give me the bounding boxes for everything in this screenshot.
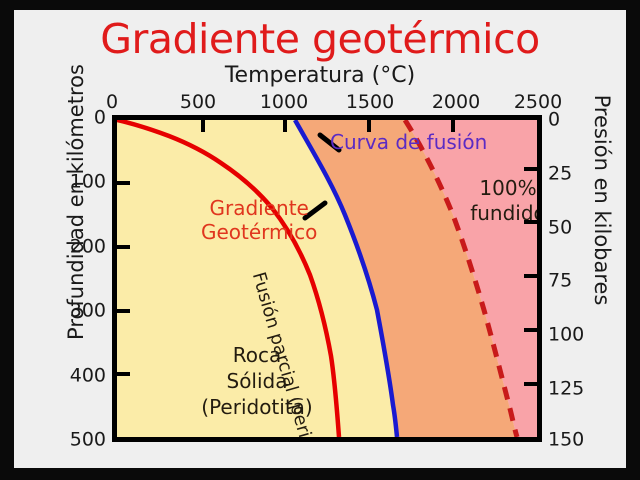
y-right-tick-0: 0 xyxy=(548,110,560,131)
plot-area: Curva de fusión Gradiente Geotérmico Fus… xyxy=(112,115,542,442)
x-tick-0: 0 xyxy=(106,92,118,113)
x-axis-title: Temperatura (°C) xyxy=(14,63,626,89)
y-right-tick-125: 125 xyxy=(548,379,584,400)
y-right-tick-100: 100 xyxy=(548,325,584,346)
y-right-tick-75: 75 xyxy=(548,271,572,292)
x-tick-500: 500 xyxy=(180,92,216,113)
geotherm-curve xyxy=(117,120,339,437)
leader-line-gradiente xyxy=(305,203,325,218)
x-tick-1000: 1000 xyxy=(260,92,308,113)
y-left-tick-400: 400 xyxy=(48,366,106,387)
y-right-tick-25: 25 xyxy=(548,164,572,185)
page-title: Gradiente geotérmico xyxy=(14,16,626,62)
y-axis-left-title: Profundidad en kilómetros xyxy=(64,52,88,352)
y-right-tick-50: 50 xyxy=(548,218,572,239)
x-tick-2000: 2000 xyxy=(432,92,480,113)
plot-box: Curva de fusión Gradiente Geotérmico Fus… xyxy=(112,115,542,442)
y-left-tick-500: 500 xyxy=(48,430,106,451)
x-tick-1500: 1500 xyxy=(346,92,394,113)
image-frame: Gradiente geotérmico Temperatura (°C) 0 … xyxy=(0,0,640,480)
y-axis-right-title: Presión en kilobares xyxy=(590,50,614,350)
phase-diagram-svg xyxy=(117,120,537,437)
y-right-tick-150: 150 xyxy=(548,430,584,451)
figure-background: Gradiente geotérmico Temperatura (°C) 0 … xyxy=(14,10,626,468)
